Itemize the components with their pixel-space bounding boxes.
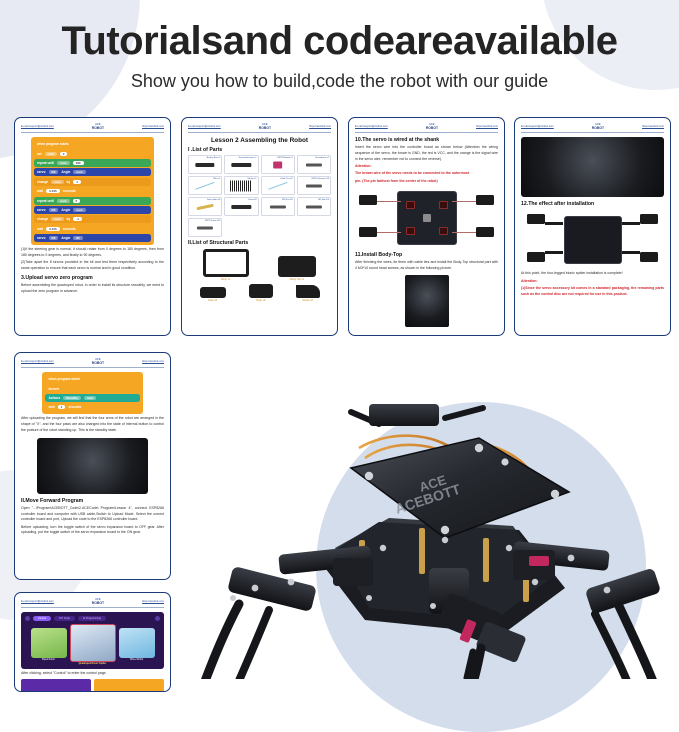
structural-part: Body x1	[203, 249, 249, 281]
doc-header-email: E-mail:support@zoobot.com	[188, 125, 221, 128]
attention-text: (1)Since the servo accessory kit comes i…	[521, 286, 664, 298]
part-cell: Cable Tie x10	[261, 176, 295, 195]
part-cell: Screwdriver x1	[297, 155, 331, 174]
controller-board-icon	[397, 191, 457, 245]
block-servo-3: servo D5 Angle 90	[34, 234, 151, 242]
app-tab-bar: Control DIY Code AI Programming	[25, 616, 160, 621]
part-cell: M3*10 Screws x20	[297, 176, 331, 195]
doc-header-website: https://acebott.com	[142, 600, 164, 603]
block-when-start: when program starts	[34, 140, 151, 148]
doc-subheading: 11.Install Body-Top	[355, 252, 498, 258]
attention-text: The brown wire of the servo needs to be …	[355, 171, 498, 177]
app-card-quadruped-selected[interactable]: Quadruped Bionic Spider	[70, 624, 116, 665]
block-wait-2: wait 0.015 seconds	[34, 225, 151, 233]
part-cell: Servo Horn x8	[188, 197, 222, 216]
part-cell: M3*8 Screw x20	[188, 218, 222, 237]
doc-header: E-mail:support@zoobot.com ACE ROBOT http…	[188, 123, 331, 133]
servo-icon	[476, 227, 494, 237]
attention-label: Attention:	[355, 164, 498, 170]
block-wait: wait 1 seconds	[45, 403, 139, 411]
doc-header-email: E-mail:support@zoobot.com	[355, 125, 388, 128]
app-panel-left	[21, 679, 91, 692]
doc-card-lesson2-parts[interactable]: E-mail:support@zoobot.com ACE ROBOT http…	[181, 117, 338, 336]
block-repeat-until-1: repeat until num 180	[34, 159, 151, 167]
robot-standby-photo	[37, 438, 149, 494]
servo-icon	[640, 252, 658, 262]
block-servo-1: servo D5 Angle num	[34, 168, 151, 176]
part-cell: ESP32 Board x1	[261, 155, 295, 174]
page-title: Tutorialsand codeareavailable	[0, 0, 679, 62]
tab-ai-programming[interactable]: AI Programming	[78, 616, 106, 621]
quadruped-spider-robot-illustration: ACE ACEBOTT	[183, 352, 679, 679]
doc-header-email: E-mail:support@zoobot.com	[21, 360, 54, 363]
app-screenshot: Control DIY Code AI Programming Biped Ro…	[21, 612, 164, 669]
block-when-start: when program starts	[45, 375, 139, 383]
block-forever: forever	[45, 385, 139, 393]
app-settings-icon[interactable]	[155, 616, 160, 621]
page-subtitle: Show you how to build,code the robot wit…	[0, 62, 679, 92]
structural-part: Shank x8	[296, 285, 320, 302]
page-header: Tutorialsand codeareavailable Show you h…	[0, 0, 679, 108]
doc-card-servo-zero[interactable]: E-mail:support@zoobot.com ACE ROBOT http…	[14, 117, 171, 336]
doc-card-app-screenshot[interactable]: E-mail:support@zoobot.com ACE ROBOT http…	[14, 592, 171, 692]
part-cell: M3 Nut x20	[297, 197, 331, 216]
doc-header-email: E-mail:support@zoobot.com	[521, 125, 554, 128]
part-cell: Battery Box x1	[188, 155, 222, 174]
doc-subheading: II.Move Forward Program	[21, 498, 164, 504]
doc-header-website: https://acebott.com	[142, 125, 164, 128]
part-cell: Servo x8	[224, 197, 258, 216]
doc-paragraph: At this point, the four-legged bionic sp…	[521, 271, 664, 277]
app-panel-right	[94, 679, 164, 692]
doc-paragraph: Before assembling the quadruped robot, i…	[21, 283, 164, 295]
doc-paragraph: After uploading the program, we will fin…	[21, 416, 164, 433]
app-avatar-icon	[25, 616, 30, 621]
servo-wiring-figure	[355, 187, 498, 249]
doc-header-email: E-mail:support@zoobot.com	[21, 125, 54, 128]
servo-icon	[640, 214, 658, 224]
servo-icon	[359, 195, 377, 205]
acebott-logo-icon: ACE ROBOT	[259, 123, 271, 130]
app-robot-cards: Biped Robot Quadruped Bionic Spider Whee…	[25, 624, 160, 665]
doc-header-email: E-mail:support@zoobot.com	[21, 600, 54, 603]
doc-subheading: I .List of Parts	[188, 147, 331, 153]
servo-icon	[359, 227, 377, 237]
doc-header-website: https://acebott.com	[309, 125, 331, 128]
doc-paragraph: Insert the servo wire into the controlle…	[355, 145, 498, 162]
structural-part: Body Top x1	[278, 256, 316, 281]
scratch-block-stack: when program starts set Link 0 repeat un…	[31, 137, 154, 245]
doc-paragraph: Open "...\Program\ACEBOTT_Code\2.ACECode…	[21, 506, 164, 523]
attention-text: pin. (The pin farthest from the center o…	[355, 179, 498, 185]
doc-header: E-mail:support@zoobot.com ACE ROBOT http…	[21, 358, 164, 368]
doc-paragraph: After clicking, select "Control" to ente…	[21, 671, 164, 677]
doc-subheading: 12.The effect after installation	[521, 201, 664, 207]
robot-photo-perspective	[521, 137, 664, 197]
doc-paragraph: (1)If the steering gear is normal, it sh…	[21, 247, 164, 259]
servo-icon	[476, 195, 494, 205]
robot-topview-figure	[521, 210, 664, 268]
block-servo-2: servo D5 Angle num	[34, 206, 151, 214]
doc-subheading: 3.Upload servo zero program	[21, 275, 164, 281]
block-change-1: change num by 1	[34, 178, 151, 186]
acebott-logo-icon: ACE ROBOT	[92, 123, 104, 130]
structural-part: Claw x8	[200, 287, 226, 302]
app-card-biped[interactable]: Biped Robot	[31, 628, 67, 661]
doc-header-website: https://acebott.com	[642, 125, 664, 128]
app-card-wheel[interactable]: Wheel Robot	[119, 628, 155, 661]
part-cell: Sticker x1	[224, 176, 258, 195]
acebott-logo-icon: ACE ROBOT	[92, 598, 104, 605]
tab-control[interactable]: Control	[33, 616, 51, 621]
parts-grid: Battery Box x1 Servo Extension x1 ESP32 …	[188, 155, 331, 237]
doc-header: E-mail:support@zoobot.com ACE ROBOT http…	[355, 123, 498, 133]
acebott-logo-icon: ACE ROBOT	[426, 123, 438, 130]
part-cell: Wire x1	[188, 176, 222, 195]
doc-header-website: https://acebott.com	[142, 360, 164, 363]
doc-header-website: https://acebott.com	[476, 125, 498, 128]
doc-paragraph: Before uploading, turn the toggle switch…	[21, 525, 164, 537]
structural-parts-row-1: Body x1 Body Top x1	[188, 249, 331, 281]
doc-header: E-mail:support@zoobot.com ACE ROBOT http…	[21, 123, 164, 133]
attention-label: Attention:	[521, 279, 664, 285]
part-cell: M2 Nut x20	[261, 197, 295, 216]
acebott-logo-icon: ACE ROBOT	[592, 123, 604, 130]
block-repeat-until-2: repeat until num 0	[34, 197, 151, 205]
doc-card-servo-wiring[interactable]: E-mail:support@zoobot.com ACE ROBOT http…	[348, 117, 505, 336]
acebott-logo-icon: ACE ROBOT	[92, 358, 104, 365]
scratch-block-stack: when program starts forever Actions Stan…	[42, 372, 142, 414]
servo-icon	[527, 252, 545, 262]
block-actions: Actions Standby num	[45, 394, 139, 402]
block-wait-1: wait 0.015 seconds	[34, 187, 151, 195]
doc-card-effect[interactable]: E-mail:support@zoobot.com ACE ROBOT http…	[514, 117, 671, 336]
tab-diy-code[interactable]: DIY Code	[54, 616, 75, 621]
block-set: set Link 0	[34, 150, 151, 158]
doc-card-standby-program[interactable]: E-mail:support@zoobot.com ACE ROBOT http…	[14, 352, 171, 580]
doc-paragraph: (2)Take apart the 8 servos provided in t…	[21, 260, 164, 272]
structural-parts-row-2: Claw x8 Thigh x8 Shank x8	[188, 284, 331, 302]
structural-part: Thigh x8	[249, 284, 273, 302]
doc-subheading: II.List of Structural Parts	[188, 240, 331, 246]
doc-subheading: 10.The servo is wired at the shank	[355, 137, 498, 143]
robot-photo	[405, 275, 449, 327]
part-cell: Servo Extension x1	[224, 155, 258, 174]
servo-icon	[527, 214, 545, 224]
doc-header: E-mail:support@zoobot.com ACE ROBOT http…	[521, 123, 664, 133]
block-change-2: change num by -1	[34, 215, 151, 223]
doc-header: E-mail:support@zoobot.com ACE ROBOT http…	[21, 598, 164, 608]
hero-robot-image: ACE ACEBOTT	[183, 352, 679, 679]
lesson-title: Lesson 2 Assembling the Robot	[188, 137, 331, 144]
doc-paragraph: After finishing the wires, tie them with…	[355, 260, 498, 272]
